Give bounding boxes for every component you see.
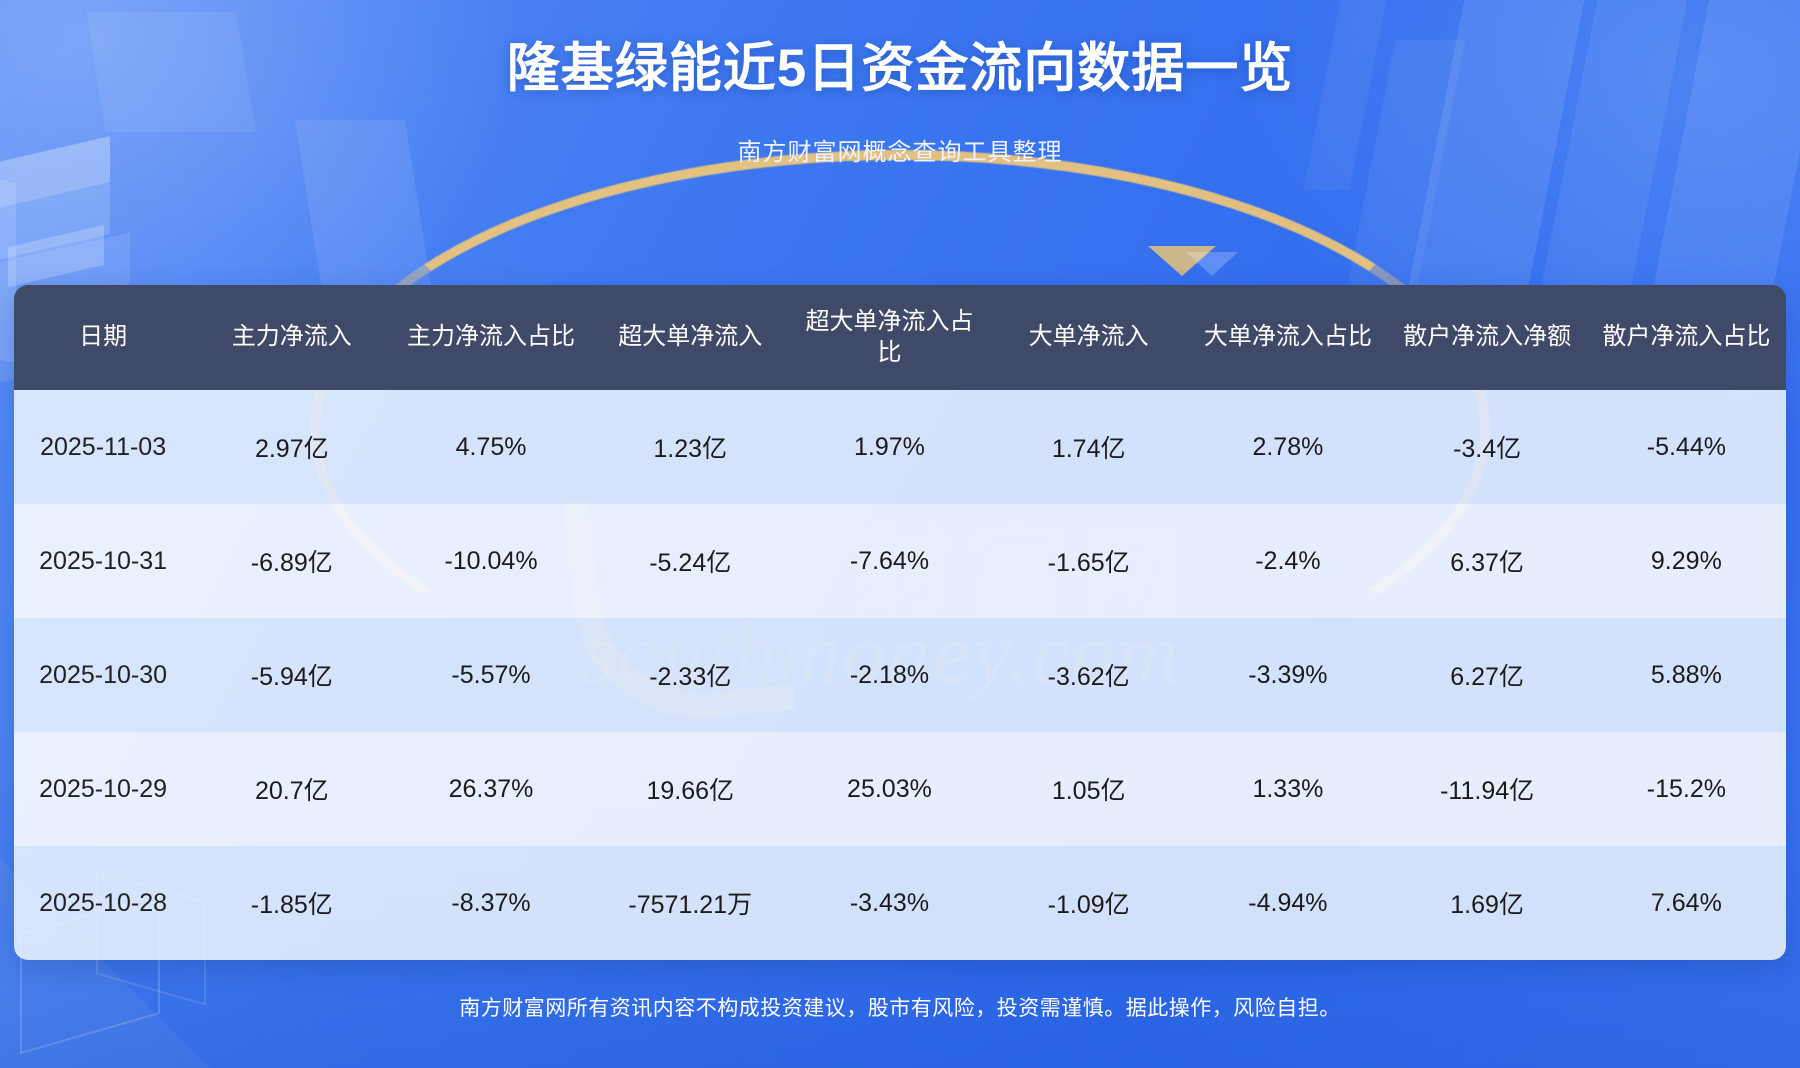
cell-lg-pct: -4.94% bbox=[1188, 846, 1387, 960]
cell-xl-net: -2.33亿 bbox=[591, 618, 790, 732]
column-header-lg-pct: 大单净流入占比 bbox=[1188, 285, 1387, 390]
decor-chevron bbox=[1148, 246, 1216, 276]
cell-lg-pct: 1.33% bbox=[1188, 732, 1387, 846]
decor-chevron bbox=[1186, 252, 1238, 276]
cell-lg-net: 1.05亿 bbox=[989, 732, 1188, 846]
page-header: 隆基绿能近5日资金流向数据一览 南方财富网概念查询工具整理 bbox=[0, 0, 1800, 167]
page-subtitle: 南方财富网概念查询工具整理 bbox=[0, 132, 1800, 167]
cell-lg-pct: -2.4% bbox=[1188, 504, 1387, 618]
column-header-main-net: 主力净流入 bbox=[192, 285, 391, 390]
cell-xl-net: 1.23亿 bbox=[591, 390, 790, 504]
cell-date: 2025-10-29 bbox=[14, 732, 192, 846]
cell-main-pct: 26.37% bbox=[391, 732, 590, 846]
cell-retail-net: -11.94亿 bbox=[1388, 732, 1587, 846]
decor-block bbox=[8, 225, 104, 287]
cell-lg-pct: 2.78% bbox=[1188, 390, 1387, 504]
cell-date: 2025-11-03 bbox=[14, 390, 192, 504]
cell-lg-net: -3.62亿 bbox=[989, 618, 1188, 732]
cell-retail-net: 6.27亿 bbox=[1388, 618, 1587, 732]
cell-retail-pct: 7.64% bbox=[1587, 846, 1786, 960]
cell-xl-pct: -3.43% bbox=[790, 846, 989, 960]
column-header-main-pct: 主力净流入占比 bbox=[391, 285, 590, 390]
fund-flow-table: 日期 主力净流入 主力净流入占比 超大单净流入 超大单净流入占比 大单净流入 大… bbox=[14, 285, 1786, 960]
cell-date: 2025-10-30 bbox=[14, 618, 192, 732]
table-row: 2025-11-03 2.97亿 4.75% 1.23亿 1.97% 1.74亿… bbox=[14, 390, 1786, 504]
table-header-row: 日期 主力净流入 主力净流入占比 超大单净流入 超大单净流入占比 大单净流入 大… bbox=[14, 285, 1786, 390]
decor-block bbox=[0, 182, 110, 262]
column-header-lg-net: 大单净流入 bbox=[989, 285, 1188, 390]
column-header-retail-pct: 散户净流入占比 bbox=[1587, 285, 1786, 390]
cell-lg-net: 1.74亿 bbox=[989, 390, 1188, 504]
cell-lg-pct: -3.39% bbox=[1188, 618, 1387, 732]
cell-main-net: -6.89亿 bbox=[192, 504, 391, 618]
table-row: 2025-10-30 -5.94亿 -5.57% -2.33亿 -2.18% -… bbox=[14, 618, 1786, 732]
cell-lg-net: -1.09亿 bbox=[989, 846, 1188, 960]
cell-main-net: -5.94亿 bbox=[192, 618, 391, 732]
cell-retail-pct: -5.44% bbox=[1587, 390, 1786, 504]
cell-main-pct: -10.04% bbox=[391, 504, 590, 618]
cell-main-pct: -8.37% bbox=[391, 846, 590, 960]
cell-date: 2025-10-28 bbox=[14, 846, 192, 960]
table-body: 2025-11-03 2.97亿 4.75% 1.23亿 1.97% 1.74亿… bbox=[14, 390, 1786, 960]
table-row: 2025-10-29 20.7亿 26.37% 19.66亿 25.03% 1.… bbox=[14, 732, 1786, 846]
cell-retail-pct: -15.2% bbox=[1587, 732, 1786, 846]
cell-retail-net: 6.37亿 bbox=[1388, 504, 1587, 618]
table-header: 日期 主力净流入 主力净流入占比 超大单净流入 超大单净流入占比 大单净流入 大… bbox=[14, 285, 1786, 390]
page-title: 隆基绿能近5日资金流向数据一览 bbox=[0, 36, 1800, 102]
cell-xl-pct: 25.03% bbox=[790, 732, 989, 846]
cell-xl-net: -7571.21万 bbox=[591, 846, 790, 960]
cell-xl-pct: 1.97% bbox=[790, 390, 989, 504]
table-row: 2025-10-28 -1.85亿 -8.37% -7571.21万 -3.43… bbox=[14, 846, 1786, 960]
cell-lg-net: -1.65亿 bbox=[989, 504, 1188, 618]
cell-retail-net: -3.4亿 bbox=[1388, 390, 1587, 504]
cell-retail-net: 1.69亿 bbox=[1388, 846, 1587, 960]
cell-xl-net: -5.24亿 bbox=[591, 504, 790, 618]
cell-date: 2025-10-31 bbox=[14, 504, 192, 618]
cell-xl-pct: -7.64% bbox=[790, 504, 989, 618]
column-header-xl-net: 超大单净流入 bbox=[591, 285, 790, 390]
cell-main-net: -1.85亿 bbox=[192, 846, 391, 960]
cell-main-net: 20.7亿 bbox=[192, 732, 391, 846]
cell-main-pct: -5.57% bbox=[391, 618, 590, 732]
cell-retail-pct: 5.88% bbox=[1587, 618, 1786, 732]
cell-xl-pct: -2.18% bbox=[790, 618, 989, 732]
column-header-retail-net: 散户净流入净额 bbox=[1388, 285, 1587, 390]
cell-main-net: 2.97亿 bbox=[192, 390, 391, 504]
footer-disclaimer: 南方财富网所有资讯内容不构成投资建议，股市有风险，投资需谨慎。据此操作，风险自担… bbox=[0, 992, 1800, 1022]
cell-retail-pct: 9.29% bbox=[1587, 504, 1786, 618]
column-header-xl-pct: 超大单净流入占比 bbox=[790, 285, 989, 390]
fund-flow-table-container: 南方财富网 southmoney.com 日期 主力净流入 主力净流入占比 超大… bbox=[14, 285, 1786, 960]
cell-main-pct: 4.75% bbox=[391, 390, 590, 504]
cell-xl-net: 19.66亿 bbox=[591, 732, 790, 846]
column-header-date: 日期 bbox=[14, 285, 192, 390]
table-row: 2025-10-31 -6.89亿 -10.04% -5.24亿 -7.64% … bbox=[14, 504, 1786, 618]
